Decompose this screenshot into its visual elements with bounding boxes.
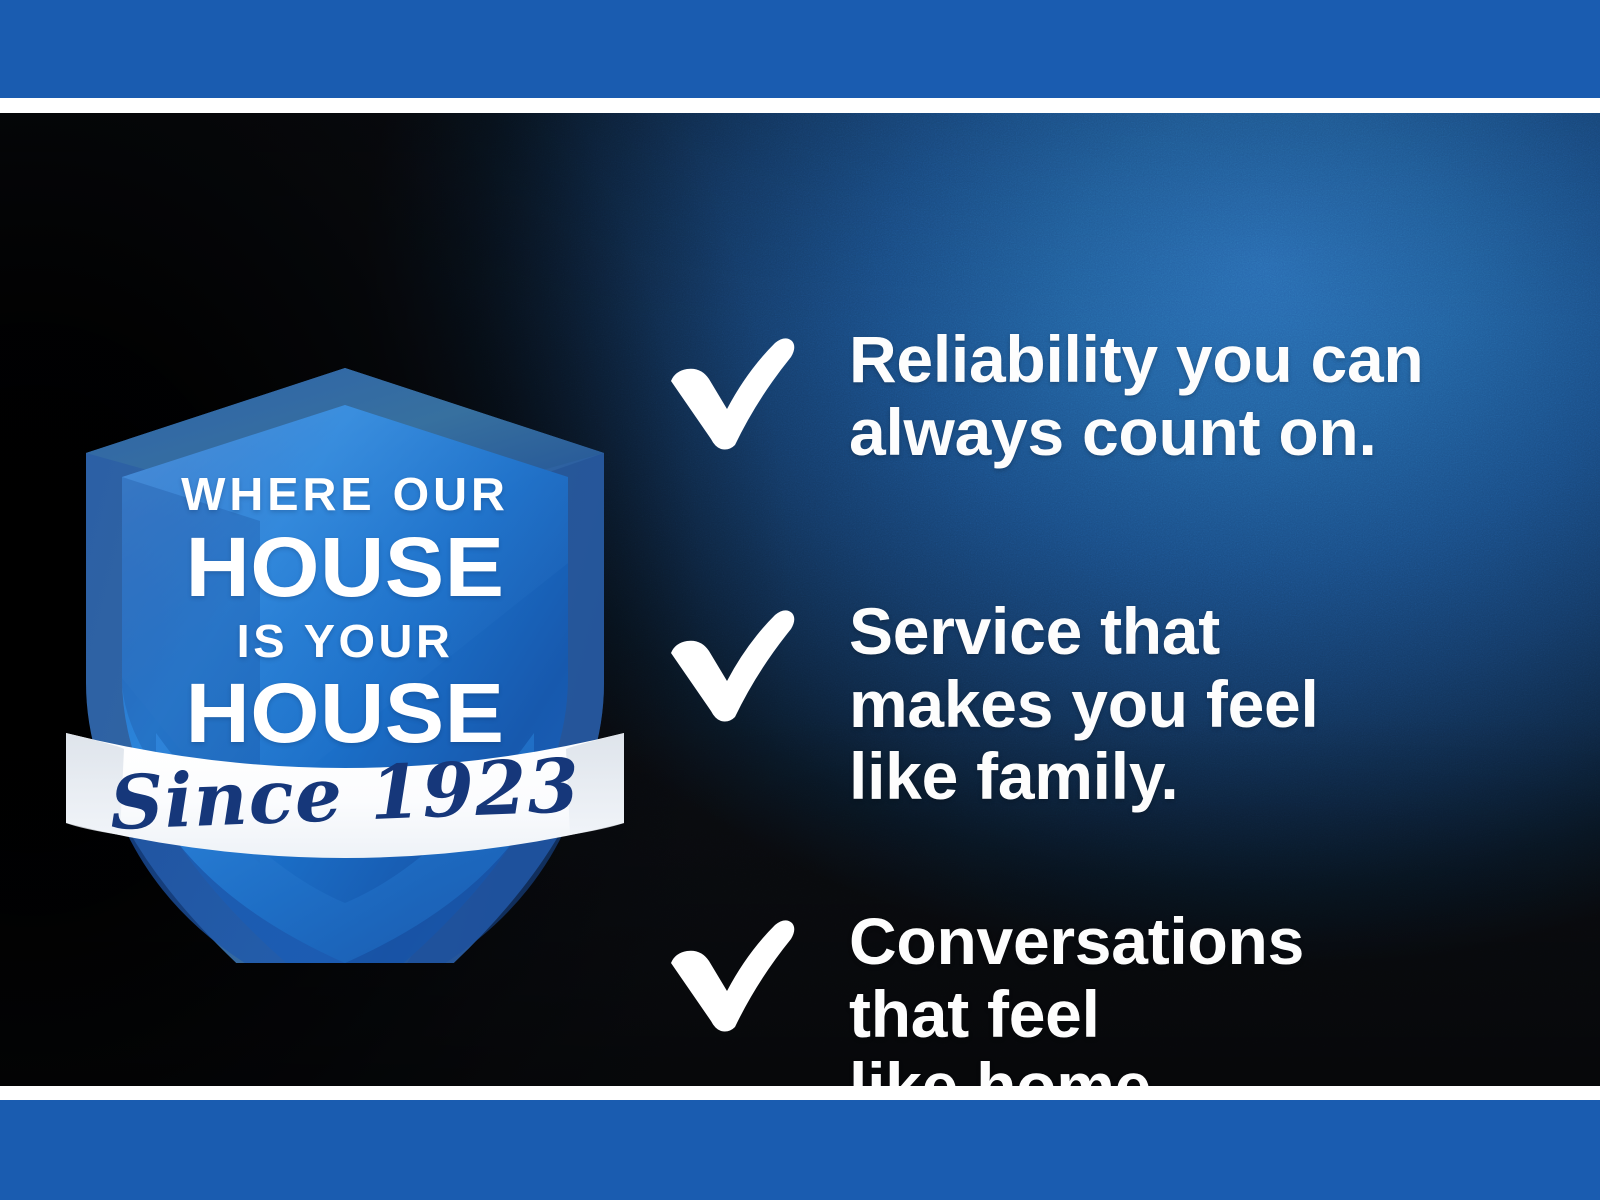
benefit-text-conversations: Conversations that feel like home.	[849, 905, 1545, 1086]
promo-graphic-canvas: WHERE OUR HOUSE IS YOUR HOUSE Since 1923…	[0, 0, 1600, 1200]
benefit-line: Conversations	[849, 905, 1545, 978]
shield-line-where-our: WHERE OUR	[54, 471, 635, 517]
benefit-line: that feel	[849, 978, 1545, 1051]
benefit-line: Reliability you can	[849, 323, 1545, 396]
top-brand-band	[0, 0, 1600, 98]
checkmark-icon	[665, 913, 797, 1033]
benefit-text-service: Service that makes you feel like family.	[849, 595, 1545, 813]
benefit-item-reliability: Reliability you can always count on.	[665, 323, 1545, 468]
shield-line-house-1: HOUSE	[43, 525, 647, 609]
main-stage: WHERE OUR HOUSE IS YOUR HOUSE Since 1923…	[0, 113, 1600, 1086]
benefit-text-reliability: Reliability you can always count on.	[849, 323, 1545, 468]
benefit-line: like family.	[849, 740, 1545, 813]
bottom-band-divider	[0, 1086, 1600, 1100]
benefit-line: Service that	[849, 595, 1545, 668]
benefit-line: makes you feel	[849, 668, 1545, 741]
benefit-item-service: Service that makes you feel like family.	[665, 595, 1545, 813]
shield-line-is-your: IS YOUR	[54, 618, 635, 664]
benefit-line: like home.	[849, 1050, 1545, 1086]
checkmark-icon	[665, 603, 797, 723]
bottom-brand-band	[0, 1100, 1600, 1200]
shield-ribbon-since-1923: Since 1923	[59, 747, 631, 843]
benefit-item-conversations: Conversations that feel like home.	[665, 905, 1545, 1086]
shield-badge: WHERE OUR HOUSE IS YOUR HOUSE Since 1923	[60, 263, 630, 963]
shield-line-house-2: HOUSE	[43, 671, 647, 755]
benefit-line: always count on.	[849, 396, 1545, 469]
top-band-divider	[0, 98, 1600, 113]
checkmark-icon	[665, 331, 797, 451]
